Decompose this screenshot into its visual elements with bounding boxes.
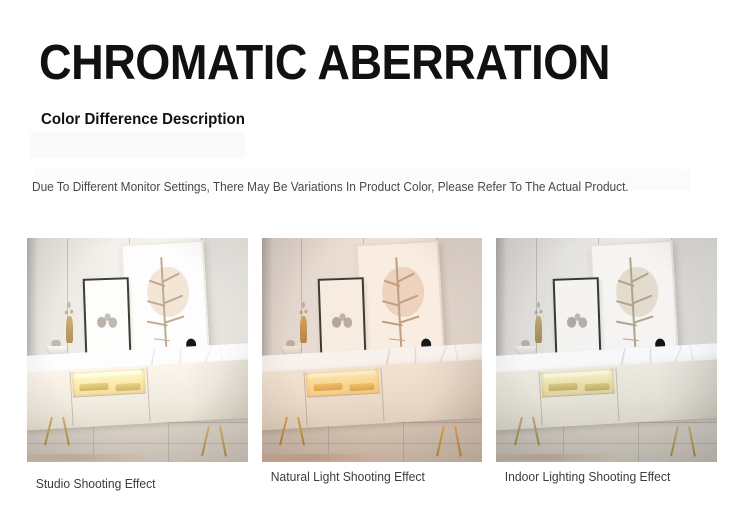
brass-vase xyxy=(535,316,542,343)
background-artifact xyxy=(30,132,245,158)
niche-object xyxy=(548,382,578,390)
caption-indoor: Indoor Lighting Shooting Effect xyxy=(496,470,710,514)
framed-print xyxy=(552,278,601,357)
cabinet-body xyxy=(27,359,248,430)
cabinet-shading xyxy=(654,359,717,421)
chromatic-aberration-page: { "header": { "title": "CHROMATIC ABERRA… xyxy=(0,0,750,520)
floor-rug xyxy=(262,454,383,461)
niche-object xyxy=(350,383,375,391)
cabinet-shading xyxy=(419,359,482,421)
brass-vase xyxy=(66,316,73,343)
framed-print xyxy=(318,278,367,357)
print-sketch xyxy=(562,299,592,332)
cabinet-body xyxy=(262,359,483,430)
brass-vase xyxy=(300,316,307,343)
floor-rug xyxy=(496,454,617,461)
floor-rug xyxy=(27,454,148,461)
caption-studio: Studio Shooting Effect xyxy=(27,470,241,514)
niche-object xyxy=(313,382,343,390)
caption-natural: Natural Light Shooting Effect xyxy=(262,470,476,514)
product-scene xyxy=(27,238,248,462)
artwork-circle xyxy=(381,266,425,318)
product-photo-studio[interactable] xyxy=(27,238,248,462)
product-photo-indoor[interactable] xyxy=(496,238,717,462)
page-subtitle: Color Difference Description xyxy=(41,110,245,130)
photo-captions: Studio Shooting Effect Natural Light Sho… xyxy=(27,470,717,514)
niche-object xyxy=(115,383,140,391)
artwork-circle xyxy=(615,266,659,318)
print-sketch xyxy=(327,299,357,332)
cabinet-shading xyxy=(184,359,247,421)
page-title: CHROMATIC ABERRATION xyxy=(39,36,610,90)
print-sketch xyxy=(92,299,122,332)
niche-object xyxy=(584,383,609,391)
product-scene xyxy=(262,238,483,462)
product-photo-natural[interactable] xyxy=(262,238,483,462)
product-photo-gallery xyxy=(27,238,717,462)
color-disclaimer-text: Due To Different Monitor Settings, There… xyxy=(32,179,629,195)
framed-print xyxy=(83,278,132,357)
cabinet-body xyxy=(496,359,717,430)
niche-object xyxy=(79,382,109,390)
product-scene xyxy=(496,238,717,462)
artwork-circle xyxy=(146,266,190,318)
